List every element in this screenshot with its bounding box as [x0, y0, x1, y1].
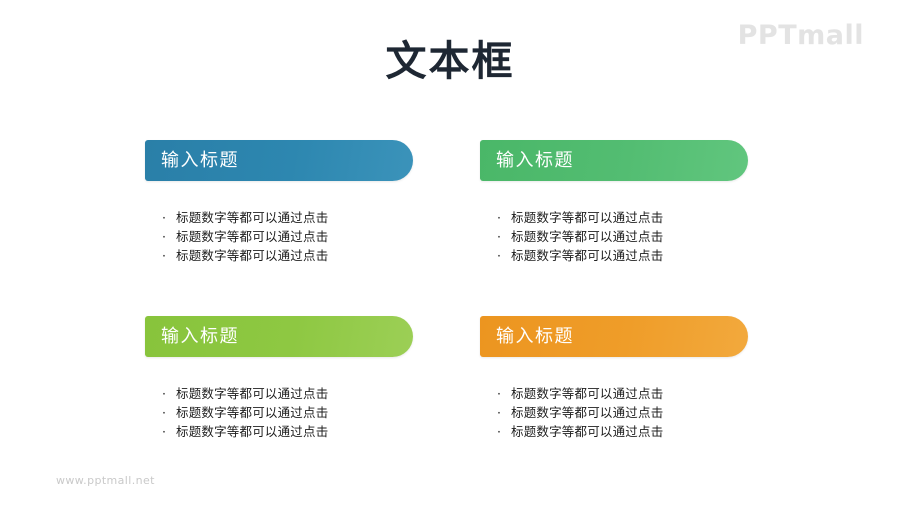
list-item-label: 标题数字等都可以通过点击	[511, 405, 663, 420]
list-item-label: 标题数字等都可以通过点击	[176, 386, 328, 401]
list-item: · 标题数字等都可以通过点击	[176, 384, 413, 403]
bullet-list-bottom-right: · 标题数字等都可以通过点击 · 标题数字等都可以通过点击 · 标题数字等都可以…	[480, 384, 748, 441]
content-block-bottom-right: 输入标题 · 标题数字等都可以通过点击 · 标题数字等都可以通过点击 · 标题数…	[480, 316, 748, 441]
list-item: · 标题数字等都可以通过点击	[511, 227, 748, 246]
header-bar-label: 输入标题	[496, 328, 574, 346]
list-item-label: 标题数字等都可以通过点击	[511, 424, 663, 439]
header-bar-bottom-right[interactable]: 输入标题	[480, 316, 748, 357]
list-item-label: 标题数字等都可以通过点击	[176, 405, 328, 420]
list-item: · 标题数字等都可以通过点击	[176, 227, 413, 246]
bullet-list-top-right: · 标题数字等都可以通过点击 · 标题数字等都可以通过点击 · 标题数字等都可以…	[480, 208, 748, 265]
list-item: · 标题数字等都可以通过点击	[176, 246, 413, 265]
page-title: 文本框	[0, 38, 900, 85]
bullet-list-bottom-left: · 标题数字等都可以通过点击 · 标题数字等都可以通过点击 · 标题数字等都可以…	[145, 384, 413, 441]
list-item-label: 标题数字等都可以通过点击	[176, 424, 328, 439]
list-item: · 标题数字等都可以通过点击	[176, 403, 413, 422]
list-item: · 标题数字等都可以通过点击	[511, 403, 748, 422]
slide-canvas: PPTmall 文本框 输入标题 · 标题数字等都可以通过点击 · 标题数字等都…	[0, 0, 900, 506]
list-item: · 标题数字等都可以通过点击	[511, 208, 748, 227]
content-block-top-right: 输入标题 · 标题数字等都可以通过点击 · 标题数字等都可以通过点击 · 标题数…	[480, 140, 748, 265]
footer-url: www.pptmall.net	[56, 474, 155, 487]
bullet-dot-icon: ·	[162, 227, 166, 246]
bullet-dot-icon: ·	[162, 208, 166, 227]
list-item-label: 标题数字等都可以通过点击	[511, 248, 663, 263]
bullet-dot-icon: ·	[162, 384, 166, 403]
header-bar-label: 输入标题	[161, 152, 239, 170]
header-bar-top-left[interactable]: 输入标题	[145, 140, 413, 181]
bullet-dot-icon: ·	[497, 246, 501, 265]
bullet-list-top-left: · 标题数字等都可以通过点击 · 标题数字等都可以通过点击 · 标题数字等都可以…	[145, 208, 413, 265]
list-item-label: 标题数字等都可以通过点击	[176, 210, 328, 225]
list-item-label: 标题数字等都可以通过点击	[176, 229, 328, 244]
list-item-label: 标题数字等都可以通过点击	[176, 248, 328, 263]
header-bar-bottom-left[interactable]: 输入标题	[145, 316, 413, 357]
list-item: · 标题数字等都可以通过点击	[176, 422, 413, 441]
list-item-label: 标题数字等都可以通过点击	[511, 386, 663, 401]
bullet-dot-icon: ·	[162, 246, 166, 265]
header-bar-label: 输入标题	[161, 328, 239, 346]
header-bar-label: 输入标题	[496, 152, 574, 170]
list-item: · 标题数字等都可以通过点击	[511, 384, 748, 403]
header-bar-top-right[interactable]: 输入标题	[480, 140, 748, 181]
bullet-dot-icon: ·	[162, 422, 166, 441]
bullet-dot-icon: ·	[162, 403, 166, 422]
list-item: · 标题数字等都可以通过点击	[511, 422, 748, 441]
bullet-dot-icon: ·	[497, 208, 501, 227]
list-item: · 标题数字等都可以通过点击	[511, 246, 748, 265]
list-item-label: 标题数字等都可以通过点击	[511, 229, 663, 244]
bullet-dot-icon: ·	[497, 227, 501, 246]
content-grid: 输入标题 · 标题数字等都可以通过点击 · 标题数字等都可以通过点击 · 标题数…	[145, 140, 765, 460]
list-item: · 标题数字等都可以通过点击	[176, 208, 413, 227]
content-block-bottom-left: 输入标题 · 标题数字等都可以通过点击 · 标题数字等都可以通过点击 · 标题数…	[145, 316, 413, 441]
bullet-dot-icon: ·	[497, 422, 501, 441]
bullet-dot-icon: ·	[497, 403, 501, 422]
content-block-top-left: 输入标题 · 标题数字等都可以通过点击 · 标题数字等都可以通过点击 · 标题数…	[145, 140, 413, 265]
bullet-dot-icon: ·	[497, 384, 501, 403]
list-item-label: 标题数字等都可以通过点击	[511, 210, 663, 225]
